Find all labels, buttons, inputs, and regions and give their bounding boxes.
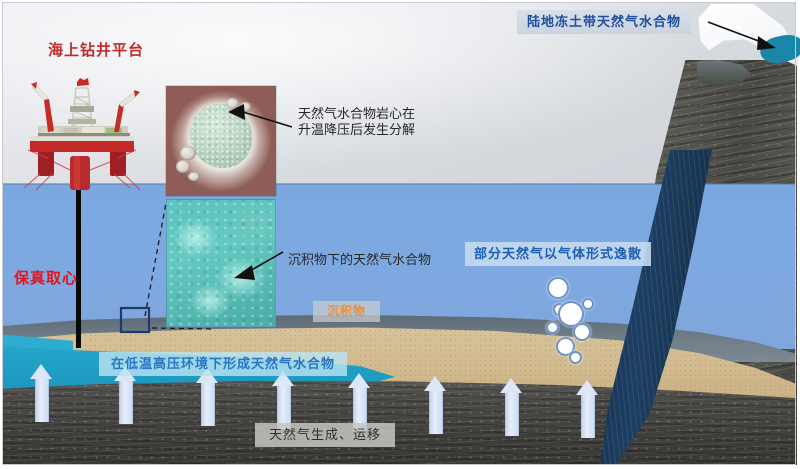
label-offshore-platform: 海上钻井平台 [48, 42, 144, 61]
drill-pipe [76, 175, 81, 348]
label-pressure-coring: 保真取心 [14, 270, 78, 289]
label-formation-condition: 在低温高压环境下形成天然气水合物 [99, 352, 347, 376]
gas-migration-arrow [30, 364, 52, 422]
hydrate-core-material [190, 104, 252, 168]
gas-migration-arrow [424, 376, 446, 434]
sediment-hydrate-photograph [166, 199, 276, 327]
label-gas-generation: 天然气生成、运移 [255, 423, 395, 447]
gas-bubble [582, 298, 594, 310]
label-core-decomposition-line2: 升温降压后发生分解 [298, 122, 415, 138]
gas-migration-arrow [576, 380, 598, 438]
gas-migration-arrow [272, 371, 294, 429]
gas-bubble [546, 321, 559, 334]
core-void-4 [240, 102, 251, 112]
gas-bubble [569, 351, 582, 364]
gas-migration-arrow [196, 368, 218, 426]
label-permafrost-hydrate: 陆地冻土带天然气水合物 [517, 10, 691, 34]
label-gas-escape: 部分天然气以气体形式逸散 [465, 242, 651, 266]
diagram-canvas: 海上钻井平台 天然气水合物岩心在 升温降压后发生分解 陆地冻土带天然气水合物 沉… [0, 0, 800, 469]
gas-migration-arrow [500, 378, 522, 436]
label-sediment: 沉积物 [313, 301, 380, 322]
core-void-5 [188, 172, 200, 181]
label-core-decomposition: 天然气水合物岩心在 升温降压后发生分解 [298, 106, 415, 139]
semi-submersible-drilling-rig [18, 78, 148, 193]
label-core-decomposition-line1: 天然气水合物岩心在 [298, 106, 415, 122]
core-void-2 [176, 160, 190, 173]
core-void-1 [180, 146, 196, 160]
label-hydrate-under-sediment: 沉积物下的天然气水合物 [288, 252, 431, 268]
gas-bubble [573, 323, 591, 341]
hydrate-core-photograph [166, 86, 276, 196]
core-void-3 [226, 98, 239, 109]
gas-bubble [547, 277, 569, 299]
